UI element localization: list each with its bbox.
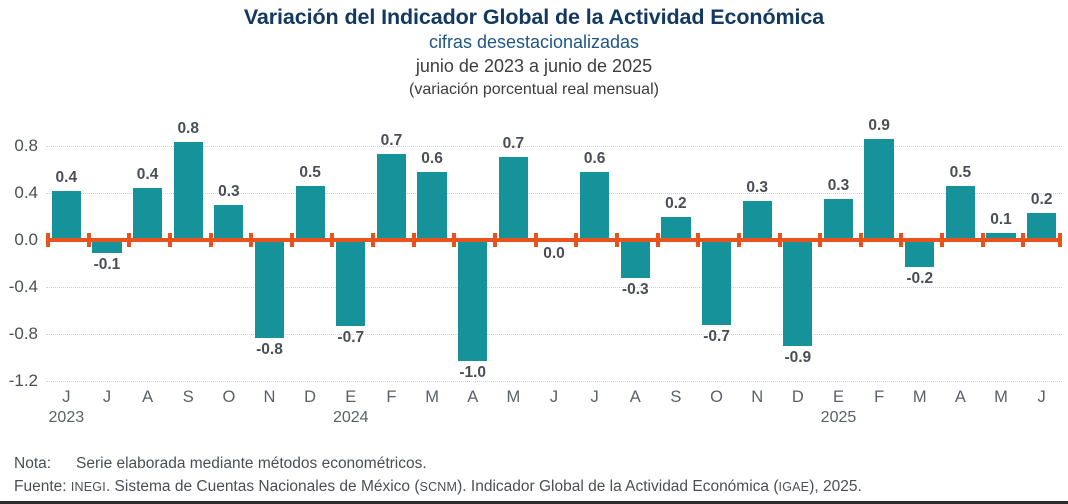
x-axis-month-label: M — [493, 388, 534, 407]
bar-slot[interactable]: 0.2 — [1021, 146, 1062, 381]
bar-slot[interactable]: 0.2 — [656, 146, 697, 381]
bar[interactable] — [133, 188, 162, 240]
source-scnm: SCNM — [420, 480, 458, 494]
x-axis-month-label: A — [615, 388, 656, 407]
bar[interactable] — [336, 240, 365, 326]
footer-notes: Nota:Serie elaborada mediante métodos ec… — [14, 452, 1062, 499]
bar-slot[interactable]: 0.3 — [737, 146, 778, 381]
x-axis-month-label: A — [940, 388, 981, 407]
x-axis-month-label: M — [412, 388, 453, 407]
y-axis-tick-label: 0.8 — [0, 136, 38, 156]
bar-slot[interactable]: -1.0 — [452, 146, 493, 381]
bar[interactable] — [377, 154, 406, 240]
bar[interactable] — [499, 157, 528, 240]
x-axis-month-label: J — [1021, 388, 1062, 407]
x-axis-year-label: 2024 — [294, 409, 408, 427]
axis-tick — [656, 233, 660, 247]
bar-value-label: 0.8 — [159, 120, 218, 138]
x-axis-month-label: N — [737, 388, 778, 407]
bar[interactable] — [255, 240, 284, 338]
axis-tick — [330, 233, 334, 247]
x-axis-labels: JJASONDEFMAMJJASONDEFMAMJ202320242025 — [46, 388, 1062, 434]
axis-tick — [818, 233, 822, 247]
axis-tick — [981, 233, 985, 247]
axis-tick — [249, 233, 253, 247]
chart-figure: Variación del Indicador Global de la Act… — [0, 0, 1068, 504]
bar[interactable] — [946, 186, 975, 240]
bar-slot[interactable]: 0.3 — [818, 146, 859, 381]
axis-tick — [412, 233, 416, 247]
bar-slot[interactable]: 0.0 — [534, 146, 575, 381]
axis-tick — [493, 233, 497, 247]
bar-slot[interactable]: 0.7 — [493, 146, 534, 381]
bar-slot[interactable]: 0.8 — [168, 146, 209, 381]
bar[interactable] — [621, 240, 650, 278]
source-text-2: ). Indicador Global de la Actividad Econ… — [457, 478, 778, 495]
chart-titles: Variación del Indicador Global de la Act… — [0, 4, 1068, 101]
bar[interactable] — [214, 205, 243, 240]
axis-tick — [534, 233, 538, 247]
axis-tick — [859, 233, 863, 247]
bar[interactable] — [743, 201, 772, 240]
x-axis-month-label: M — [899, 388, 940, 407]
gridline — [46, 381, 1062, 382]
chart-units: (variación porcentual real mensual) — [0, 78, 1068, 101]
note-text: Serie elaborada mediante métodos economé… — [76, 455, 427, 472]
x-axis-month-label: E — [330, 388, 371, 407]
axis-tick — [87, 233, 91, 247]
y-axis-tick-label: -0.4 — [0, 277, 38, 297]
x-axis-month-label: A — [452, 388, 493, 407]
bar-slot[interactable]: 0.4 — [127, 146, 168, 381]
source-text-3: ), 2025. — [809, 478, 862, 495]
source-inegi: INEGI — [71, 480, 106, 494]
x-axis-month-label: A — [127, 388, 168, 407]
x-axis-month-label: E — [818, 388, 859, 407]
source-label: Fuente: — [14, 478, 67, 495]
x-axis-month-label: D — [290, 388, 331, 407]
x-axis-month-label: D — [778, 388, 819, 407]
y-axis-tick-label: -1.2 — [0, 371, 38, 391]
x-axis-month-label: O — [696, 388, 737, 407]
axis-tick — [1058, 233, 1062, 247]
bar-slot[interactable]: -0.3 — [615, 146, 656, 381]
bar-slot[interactable]: -0.7 — [330, 146, 371, 381]
axis-tick — [778, 233, 782, 247]
chart-subtitle: cifras desestacionalizadas — [0, 30, 1068, 54]
x-axis-year-label: 2025 — [782, 409, 896, 427]
bar-slot[interactable]: 0.6 — [574, 146, 615, 381]
x-axis-month-label: S — [168, 388, 209, 407]
bar-slot[interactable]: 0.9 — [859, 146, 900, 381]
axis-tick — [168, 233, 172, 247]
bar[interactable] — [580, 172, 609, 240]
bar[interactable] — [661, 217, 690, 241]
x-axis-month-label: O — [209, 388, 250, 407]
x-axis-year-label: 2023 — [9, 409, 123, 427]
bar-slot[interactable]: 0.1 — [981, 146, 1022, 381]
chart-period: junio de 2023 a junio de 2025 — [0, 54, 1068, 78]
y-axis-tick-label: 0.0 — [0, 230, 38, 250]
x-axis-month-label: F — [859, 388, 900, 407]
axis-tick — [940, 233, 944, 247]
bar[interactable] — [824, 199, 853, 240]
page-title: Variación del Indicador Global de la Act… — [0, 4, 1068, 30]
bar[interactable] — [458, 240, 487, 361]
zero-axis-line — [46, 238, 1062, 242]
axis-tick — [1021, 233, 1025, 247]
x-axis-month-label: S — [656, 388, 697, 407]
axis-tick — [574, 233, 578, 247]
bar-value-label: 0.2 — [1012, 191, 1068, 209]
plot-area: 0.80.40.0-0.4-0.8-1.2 0.4-0.10.40.80.3-0… — [46, 146, 1062, 381]
bar-series: 0.4-0.10.40.80.3-0.80.5-0.70.70.6-1.00.7… — [46, 146, 1062, 381]
bar[interactable] — [296, 186, 325, 240]
footer-source-row: Fuente: INEGI. Sistema de Cuentas Nacion… — [14, 475, 1062, 499]
x-axis-month-label: J — [574, 388, 615, 407]
y-axis-tick-label: -0.8 — [0, 324, 38, 344]
bar[interactable] — [905, 240, 934, 267]
bar[interactable] — [783, 240, 812, 346]
axis-tick — [209, 233, 213, 247]
axis-tick — [696, 233, 700, 247]
axis-tick — [46, 233, 50, 247]
x-axis-month-label: F — [371, 388, 412, 407]
x-axis-month-label: J — [87, 388, 128, 407]
bar[interactable] — [1027, 213, 1056, 240]
x-axis-month-label: J — [46, 388, 87, 407]
source-igae: IGAE — [779, 480, 810, 494]
bar-value-label: 0.9 — [850, 117, 909, 135]
bar[interactable] — [417, 172, 446, 240]
bar-slot[interactable]: 0.6 — [412, 146, 453, 381]
note-label: Nota: — [14, 452, 76, 475]
footer-note-row: Nota:Serie elaborada mediante métodos ec… — [14, 452, 1062, 475]
bar[interactable] — [864, 139, 893, 240]
axis-tick — [371, 233, 375, 247]
x-axis-month-label: N — [249, 388, 290, 407]
bar-slot[interactable]: 0.5 — [940, 146, 981, 381]
axis-tick — [452, 233, 456, 247]
axis-tick — [615, 233, 619, 247]
x-axis-month-label: J — [534, 388, 575, 407]
axis-tick — [737, 233, 741, 247]
bar[interactable] — [52, 191, 81, 240]
source-text-1: . Sistema de Cuentas Nacionales de Méxic… — [106, 478, 420, 495]
bar-slot[interactable]: 0.7 — [371, 146, 412, 381]
bar[interactable] — [702, 240, 731, 325]
axis-tick — [127, 233, 131, 247]
bar[interactable] — [174, 142, 203, 240]
y-axis-tick-label: 0.4 — [0, 183, 38, 203]
axis-tick — [290, 233, 294, 247]
axis-tick — [899, 233, 903, 247]
x-axis-month-label: M — [981, 388, 1022, 407]
